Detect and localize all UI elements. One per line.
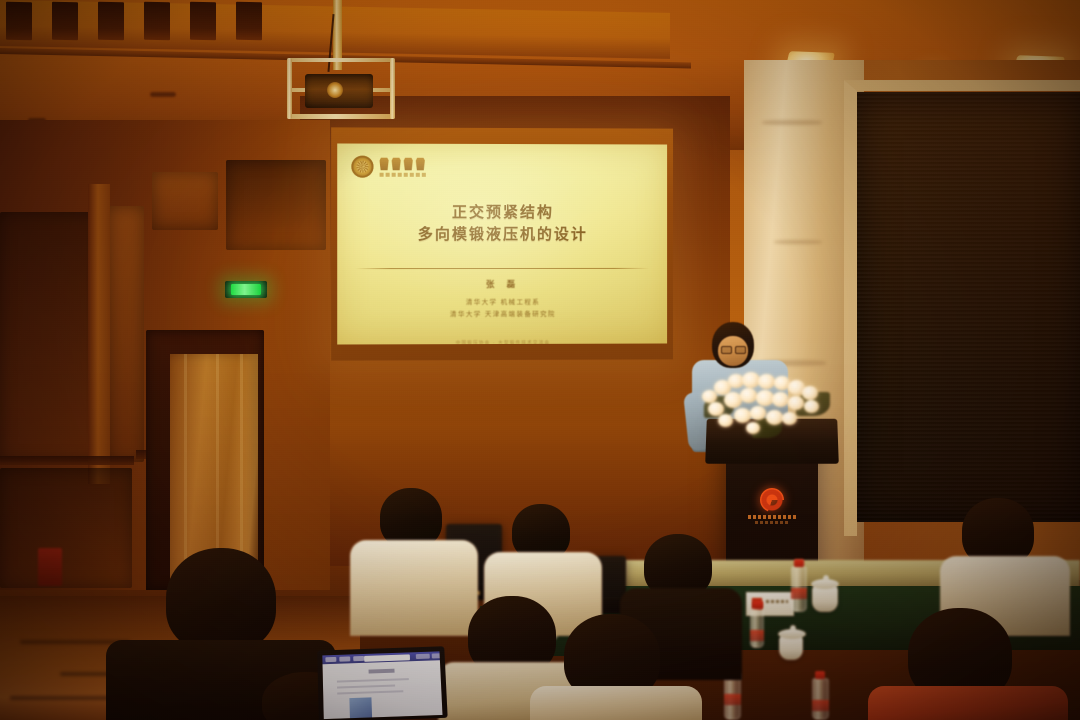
browser-tabs[interactable] [325,656,364,662]
flower-arrangement [700,372,836,442]
flower [772,392,789,407]
ceiling-coffer [6,2,32,40]
slide-title-line1: 正交预紧结构 [337,202,667,224]
flower [804,400,819,413]
slide-divider [355,268,649,269]
page-heading [369,669,395,674]
wall-fixture [38,548,62,586]
laptop-lid [317,646,447,720]
projector-lens-icon [327,82,343,98]
podium-org-name [748,515,796,519]
podium-emblem [744,488,800,526]
ceiling-coffer [144,2,170,40]
university-wordmark [380,157,426,176]
affiliation-line-2: 清华大学 天津高端装备研究院 [337,309,667,322]
slide-affiliation: 清华大学 机械工程系 清华大学 天津高端装备研究院 [337,297,667,322]
university-name-en [380,172,426,176]
affiliation-line-1: 清华大学 机械工程系 [337,297,667,310]
flower [746,422,760,434]
wall-panel-frame [844,80,1080,536]
browser-toolbar[interactable] [322,651,440,664]
wall-dado-rail [0,456,134,465]
marble-vein [762,120,822,125]
ceiling-vent-slot [150,92,176,97]
laptop-screen[interactable] [322,651,442,719]
page-text-line [337,685,395,689]
wall-panel [152,172,218,230]
flower [734,408,751,423]
audience-head [380,488,442,548]
wall-pilaster [88,184,110,484]
flower [766,410,783,425]
slide-logo [351,156,425,178]
flower [802,386,818,400]
ceiling-coffer [190,2,216,40]
presentation-slide: 正交预紧结构 多向模锻液压机的设计 张 磊 清华大学 机械工程系 清华大学 天津… [337,143,667,344]
cage-bar [287,58,395,62]
university-name-cn [380,157,426,170]
slide-author: 张 磊 [337,278,667,290]
podium-org-subtitle [755,521,789,524]
projection-screen: 正交预紧结构 多向模锻液压机的设计 张 磊 清华大学 机械工程系 清华大学 天津… [331,127,673,360]
water-bottle[interactable] [750,608,764,648]
flower [750,406,766,420]
presenter-head [712,322,754,368]
page-text-line [337,678,409,682]
wall-panel [0,468,132,588]
slide-title-line2: 多向模锻液压机的设计 [337,224,667,246]
marble-vein [774,240,822,244]
water-bottle[interactable] [812,678,829,720]
exit-sign: EXIT [225,281,267,298]
browser-button[interactable] [432,653,443,658]
flower [788,396,804,410]
projector-mount-cage [287,58,395,120]
ceiling-coffer [236,2,262,40]
browser-address-bar[interactable] [364,654,410,661]
ceiling-coffer [98,2,124,40]
audience-torso [350,540,478,636]
water-bottle[interactable] [791,566,807,612]
flower [782,412,797,425]
eyeglasses-icon [721,346,746,352]
laptop[interactable] [317,646,447,720]
university-seal-icon [351,156,373,178]
conference-presentation-photo: EXIT [0,0,1080,720]
cage-bar [287,58,292,119]
cage-bar [390,58,395,119]
swirl-logo-icon [760,488,784,512]
browser-button[interactable] [416,654,430,659]
cage-bar [287,114,395,119]
page-text-line [337,690,403,694]
audience-torso [530,686,702,720]
flower [718,414,733,427]
lidded-teacup[interactable] [812,586,838,612]
door-highlight [184,354,187,592]
exit-sign-label: EXIT [231,284,261,295]
audience-torso [868,686,1068,720]
lidded-teacup[interactable] [779,636,803,660]
audience-head [166,548,276,652]
wall-panel [108,206,144,462]
ceiling-coffer [52,2,78,40]
slide-title: 正交预紧结构 多向模锻液压机的设计 [337,202,667,246]
page-image [349,697,372,719]
flower [758,374,775,389]
wall-panel [226,160,326,250]
flower [740,388,757,403]
